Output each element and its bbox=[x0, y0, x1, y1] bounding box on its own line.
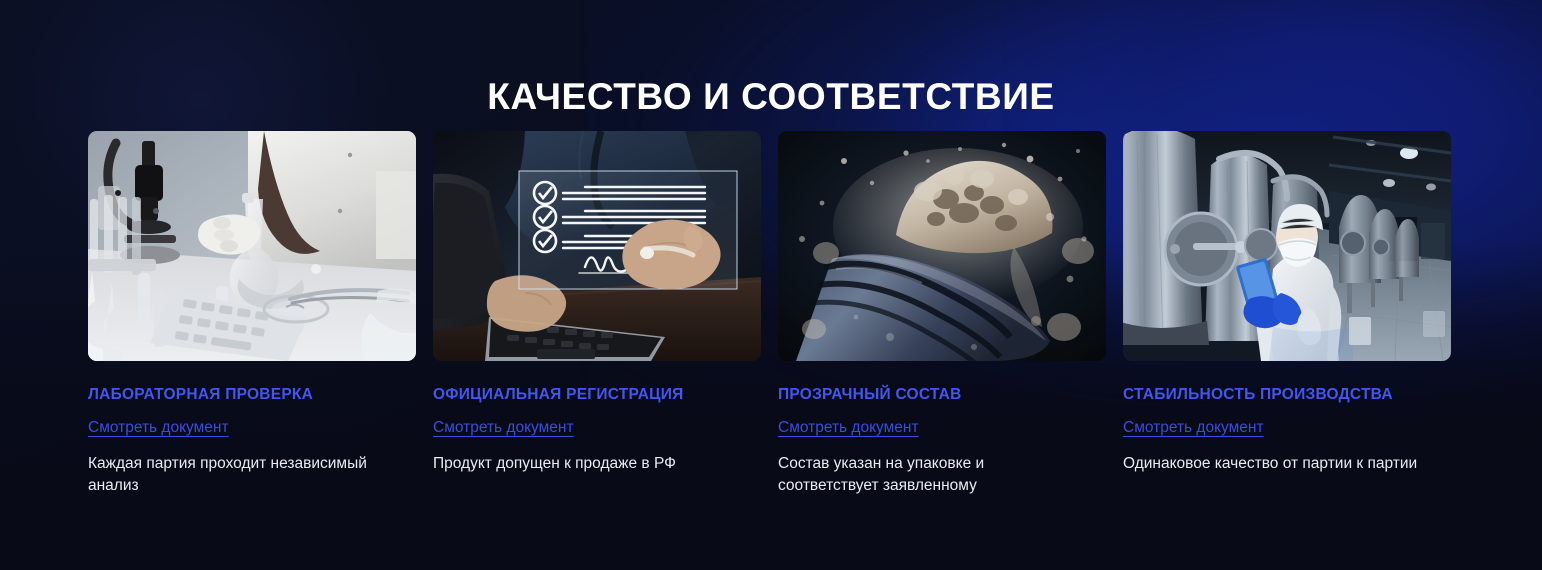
card-title: ПРОЗРАЧНЫЙ СОСТАВ bbox=[778, 385, 1106, 405]
digital-checklist-photo bbox=[433, 131, 761, 361]
factory-tanks-photo bbox=[1123, 131, 1451, 361]
card-title: ЛАБОРАТОРНАЯ ПРОВЕРКА bbox=[88, 385, 416, 405]
card-transparent-composition: ПРОЗРАЧНЫЙ СОСТАВ Смотреть документ Сост… bbox=[778, 131, 1106, 496]
card-official-registration: ОФИЦИАЛЬНАЯ РЕГИСТРАЦИЯ Смотреть докумен… bbox=[433, 131, 761, 496]
card-description: Одинаковое качество от партии к партии bbox=[1123, 453, 1451, 475]
page-title: КАЧЕСТВО И СООТВЕТСТВИЕ bbox=[0, 74, 1542, 120]
view-document-link[interactable]: Смотреть документ bbox=[1123, 418, 1264, 438]
laboratory-photo bbox=[88, 131, 416, 361]
card-description: Каждая партия проходит независимый анали… bbox=[88, 453, 388, 496]
quality-compliance-section: КАЧЕСТВО И СООТВЕТСТВИЕ bbox=[0, 0, 1542, 570]
view-document-link[interactable]: Смотреть документ bbox=[88, 418, 229, 438]
powder-explosion-photo bbox=[778, 131, 1106, 361]
card-production-stability: СТАБИЛЬНОСТЬ ПРОИЗВОДСТВА Смотреть докум… bbox=[1123, 131, 1451, 496]
card-title: СТАБИЛЬНОСТЬ ПРОИЗВОДСТВА bbox=[1123, 385, 1451, 405]
view-document-link[interactable]: Смотреть документ bbox=[433, 418, 574, 438]
card-laboratory-check: ЛАБОРАТОРНАЯ ПРОВЕРКА Смотреть документ … bbox=[88, 131, 416, 496]
card-description: Состав указан на упаковке и соответствуе… bbox=[778, 453, 1078, 496]
cards-grid: ЛАБОРАТОРНАЯ ПРОВЕРКА Смотреть документ … bbox=[88, 131, 1454, 496]
card-title: ОФИЦИАЛЬНАЯ РЕГИСТРАЦИЯ bbox=[433, 385, 761, 405]
view-document-link[interactable]: Смотреть документ bbox=[778, 418, 919, 438]
card-description: Продукт допущен к продаже в РФ bbox=[433, 453, 761, 475]
